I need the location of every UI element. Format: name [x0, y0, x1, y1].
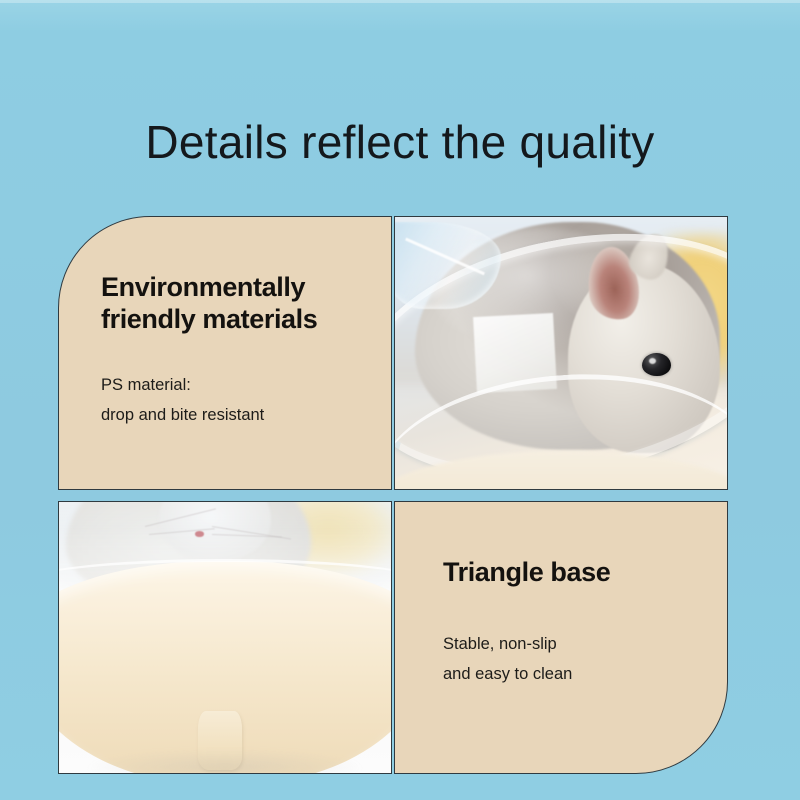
feature-photo-bowl-triangle-foot	[58, 501, 392, 775]
feature-title: Triangle base	[443, 556, 610, 588]
feature-body-line: Stable, non-slip	[443, 629, 572, 659]
feature-title: Environmentally friendly materials	[101, 271, 391, 335]
hamster-sand-bath-image	[395, 217, 727, 489]
feature-body: Stable, non-slip and easy to clean	[443, 629, 572, 689]
feature-card-triangle-base: Triangle base Stable, non-slip and easy …	[394, 501, 728, 775]
feature-body-line: drop and bite resistant	[101, 400, 264, 430]
feature-body: PS material: drop and bite resistant	[101, 370, 264, 430]
feature-photo-hamster-in-sand-bath	[394, 216, 728, 490]
card-content: Triangle base Stable, non-slip and easy …	[395, 502, 727, 774]
feature-body-line: PS material:	[101, 370, 264, 400]
feature-body-line: and easy to clean	[443, 659, 572, 689]
product-feature-poster: Details reflect the quality Environmenta…	[0, 0, 800, 800]
hamster-eye	[642, 353, 670, 376]
page-title: Details reflect the quality	[0, 114, 800, 170]
feature-grid: Environmentally friendly materials PS ma…	[58, 216, 726, 774]
bowl-triangle-foot-image	[59, 502, 391, 774]
feature-card-environmentally-friendly-materials: Environmentally friendly materials PS ma…	[58, 216, 392, 490]
bowl-drop-shadow	[86, 749, 365, 773]
card-content: Environmentally friendly materials PS ma…	[59, 217, 391, 489]
cream-bowl-rim-highlight	[59, 559, 391, 611]
